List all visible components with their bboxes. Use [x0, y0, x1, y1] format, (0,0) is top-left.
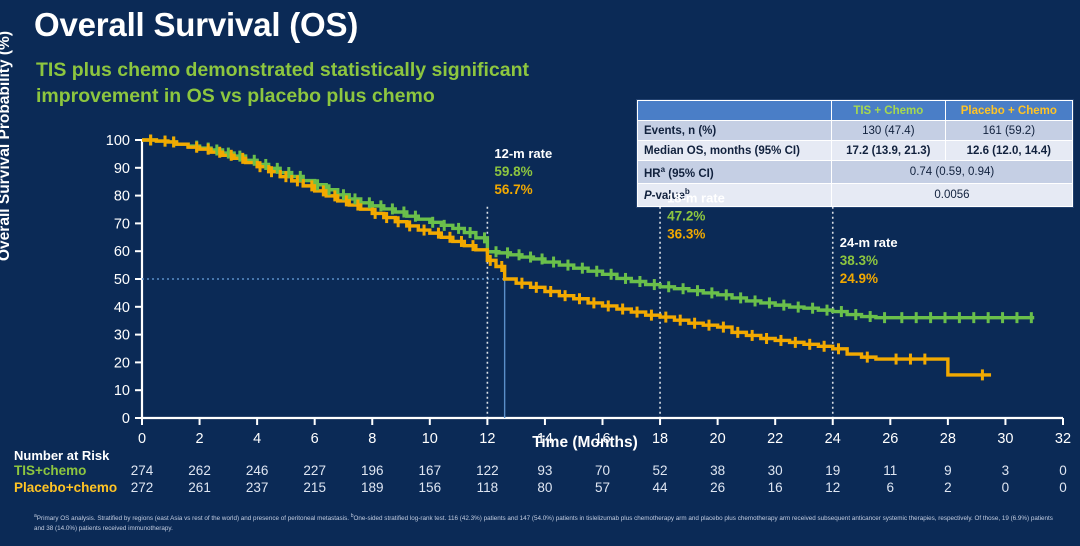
svg-text:50: 50 — [114, 272, 130, 288]
risk-value: 0 — [988, 480, 1022, 495]
risk-table: Number at Risk TIS+chemo2742622462271961… — [0, 448, 1080, 506]
svg-text:60: 60 — [114, 244, 130, 260]
risk-value: 237 — [240, 480, 274, 495]
footnote: aPrimary OS analysis. Stratified by regi… — [34, 513, 1054, 534]
svg-text:59.8%: 59.8% — [494, 164, 532, 179]
risk-value: 3 — [988, 463, 1022, 478]
risk-value: 0 — [1046, 463, 1080, 478]
risk-value: 30 — [758, 463, 792, 478]
risk-value: 262 — [183, 463, 217, 478]
risk-value: 118 — [470, 480, 504, 495]
risk-value: 38 — [701, 463, 735, 478]
svg-text:80: 80 — [114, 189, 130, 205]
risk-value: 93 — [528, 463, 562, 478]
svg-text:20: 20 — [114, 355, 130, 371]
svg-text:12-m rate: 12-m rate — [494, 146, 552, 161]
risk-value: 274 — [125, 463, 159, 478]
svg-text:40: 40 — [114, 300, 130, 316]
risk-value: 12 — [816, 480, 850, 495]
risk-value: 167 — [413, 463, 447, 478]
svg-text:100: 100 — [106, 133, 130, 149]
risk-value: 227 — [298, 463, 332, 478]
svg-text:24-m rate: 24-m rate — [840, 235, 898, 250]
risk-value: 52 — [643, 463, 677, 478]
km-curves-svg: 0102030405060708090100024681012141618202… — [0, 118, 1080, 448]
risk-value: 57 — [586, 480, 620, 495]
risk-value: 261 — [183, 480, 217, 495]
risk-value: 196 — [355, 463, 389, 478]
risk-value: 16 — [758, 480, 792, 495]
footnote-text-a: Primary OS analysis. Stratified by regio… — [37, 515, 349, 522]
risk-value: 272 — [125, 480, 159, 495]
y-axis-label: Overall Survival Probability (%) — [0, 31, 14, 261]
km-plot: Overall Survival Probability (%) 0102030… — [0, 118, 1080, 448]
risk-row-label: Placebo+chemo — [14, 480, 117, 495]
svg-text:30: 30 — [114, 328, 130, 344]
risk-value: 0 — [1046, 480, 1080, 495]
svg-text:18-m rate: 18-m rate — [667, 191, 725, 206]
risk-value: 122 — [470, 463, 504, 478]
slide-root: Overall Survival (OS) TIS plus chemo dem… — [0, 0, 1080, 546]
svg-text:36.3%: 36.3% — [667, 227, 705, 242]
risk-value: 44 — [643, 480, 677, 495]
risk-value: 19 — [816, 463, 850, 478]
risk-value: 156 — [413, 480, 447, 495]
risk-table-title: Number at Risk — [14, 448, 109, 463]
svg-text:10: 10 — [114, 383, 130, 399]
risk-value: 70 — [586, 463, 620, 478]
svg-text:24.9%: 24.9% — [840, 271, 878, 286]
risk-value: 6 — [873, 480, 907, 495]
risk-value: 246 — [240, 463, 274, 478]
svg-text:70: 70 — [114, 216, 130, 232]
svg-text:56.7%: 56.7% — [494, 182, 532, 197]
svg-text:0: 0 — [122, 411, 130, 427]
risk-value: 215 — [298, 480, 332, 495]
risk-table-row: TIS+chemo2742622462271961671229370523830… — [0, 463, 1080, 480]
risk-value: 80 — [528, 480, 562, 495]
svg-text:90: 90 — [114, 161, 130, 177]
svg-text:47.2%: 47.2% — [667, 209, 705, 224]
risk-table-row: Placebo+chemo272261237215189156118805744… — [0, 480, 1080, 497]
risk-value: 2 — [931, 480, 965, 495]
page-title: Overall Survival (OS) — [34, 6, 358, 44]
risk-value: 9 — [931, 463, 965, 478]
risk-value: 26 — [701, 480, 735, 495]
risk-row-label: TIS+chemo — [14, 463, 86, 478]
svg-text:38.3%: 38.3% — [840, 253, 878, 268]
slide-subtitle: TIS plus chemo demonstrated statisticall… — [36, 58, 656, 110]
risk-value: 189 — [355, 480, 389, 495]
risk-value: 11 — [873, 463, 907, 478]
